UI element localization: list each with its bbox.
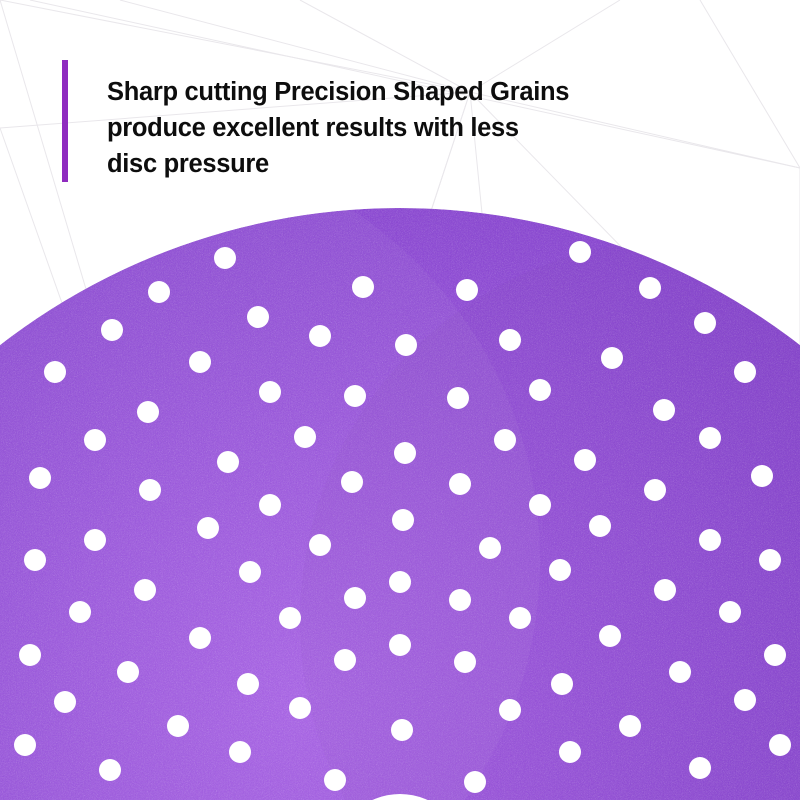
headline-line-1: Sharp cutting Precision Shaped Grains — [107, 74, 727, 110]
dust-hole — [197, 517, 219, 539]
dust-hole — [464, 771, 486, 793]
dust-hole — [653, 399, 675, 421]
dust-hole — [694, 312, 716, 334]
dust-hole — [734, 361, 756, 383]
dust-hole — [392, 509, 414, 531]
dust-hole — [689, 757, 711, 779]
headline-line-2: produce excellent results with less — [107, 110, 727, 146]
dust-hole — [134, 579, 156, 601]
dust-hole — [239, 561, 261, 583]
dust-hole — [447, 387, 469, 409]
dust-hole — [639, 277, 661, 299]
dust-hole — [148, 281, 170, 303]
dust-hole — [247, 306, 269, 328]
dust-hole — [189, 351, 211, 373]
dust-hole — [699, 427, 721, 449]
dust-hole — [309, 325, 331, 347]
dust-hole — [759, 549, 781, 571]
dust-hole — [217, 451, 239, 473]
dust-hole — [699, 529, 721, 551]
dust-hole — [644, 479, 666, 501]
dust-hole — [529, 379, 551, 401]
dust-hole — [189, 627, 211, 649]
dust-hole — [601, 347, 623, 369]
dust-hole — [394, 442, 416, 464]
dust-hole — [599, 625, 621, 647]
dust-hole — [259, 494, 281, 516]
product-feature-panel: Sharp cutting Precision Shaped Grains pr… — [0, 0, 800, 800]
dust-hole — [259, 381, 281, 403]
dust-hole — [499, 329, 521, 351]
dust-hole — [395, 334, 417, 356]
dust-hole — [569, 241, 591, 263]
dust-hole — [54, 691, 76, 713]
dust-hole — [29, 467, 51, 489]
accent-bar — [62, 60, 68, 182]
dust-hole — [499, 699, 521, 721]
dust-hole — [549, 559, 571, 581]
dust-hole — [309, 534, 331, 556]
dust-hole — [619, 715, 641, 737]
dust-hole — [341, 471, 363, 493]
dust-hole — [84, 529, 106, 551]
headline-line-3: disc pressure — [107, 146, 727, 182]
dust-hole — [99, 759, 121, 781]
dust-hole — [389, 634, 411, 656]
dust-hole — [214, 247, 236, 269]
dust-hole — [344, 385, 366, 407]
dust-hole — [44, 361, 66, 383]
dust-hole — [101, 319, 123, 341]
dust-hole — [279, 607, 301, 629]
dust-hole — [137, 401, 159, 423]
dust-hole — [719, 601, 741, 623]
dust-hole — [344, 587, 366, 609]
dust-hole — [24, 549, 46, 571]
dust-hole — [19, 644, 41, 666]
dust-hole — [454, 651, 476, 673]
dust-hole — [167, 715, 189, 737]
dust-hole — [334, 649, 356, 671]
dust-hole — [734, 689, 756, 711]
dust-hole — [669, 661, 691, 683]
dust-hole — [494, 429, 516, 451]
dust-hole — [764, 644, 786, 666]
dust-hole — [449, 473, 471, 495]
dust-hole — [139, 479, 161, 501]
dust-hole — [769, 734, 791, 756]
dust-hole — [352, 276, 374, 298]
dust-hole — [529, 494, 551, 516]
dust-hole — [391, 719, 413, 741]
dust-hole — [389, 571, 411, 593]
page-title: Sharp cutting Precision Shaped Grains pr… — [107, 74, 727, 182]
dust-hole — [551, 673, 573, 695]
dust-hole — [559, 741, 581, 763]
dust-hole — [117, 661, 139, 683]
dust-hole — [294, 426, 316, 448]
dust-hole — [237, 673, 259, 695]
dust-hole — [456, 279, 478, 301]
dust-hole — [84, 429, 106, 451]
dust-hole — [449, 589, 471, 611]
dust-hole — [289, 697, 311, 719]
dust-hole — [589, 515, 611, 537]
dust-hole — [324, 769, 346, 791]
dust-hole — [479, 537, 501, 559]
dust-hole — [69, 601, 91, 623]
dust-hole — [229, 741, 251, 763]
dust-hole — [654, 579, 676, 601]
dust-hole — [751, 465, 773, 487]
dust-hole — [574, 449, 596, 471]
dust-hole — [509, 607, 531, 629]
dust-hole — [14, 734, 36, 756]
